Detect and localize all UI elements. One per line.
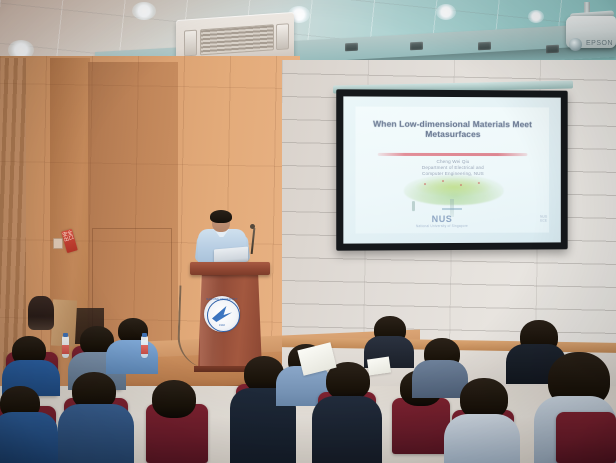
audience-shoulders [106,340,158,374]
projector: EPSON [566,2,616,54]
tree-blossom-dot [442,180,444,182]
ac-side-vent [184,30,197,57]
ceiling-light [528,10,544,23]
podium: NANJING UNIVERSITY 1902 [190,262,270,368]
audience-shoulders [58,404,134,463]
podium-top [190,262,270,275]
emblem-top-text: NANJING UNIVERSITY [204,298,240,301]
tree-bench [442,208,462,210]
ceiling-vent [410,42,423,51]
tree-canopy-highlight [414,177,494,197]
slide-subtitle-line: Department of Electrical and [360,165,546,170]
ceiling-vent [478,42,491,51]
projector-lens [569,38,582,51]
presenter-hair [210,210,232,223]
bottle-cap [63,333,68,337]
water-bottle[interactable] [62,336,69,358]
handout-paper [367,357,391,376]
slide-corner-mark: NUS ECE [508,215,547,224]
projector-brand-label: EPSON [586,40,613,47]
bottle-cap [142,333,147,337]
screen-surface: When Low-dimensional Materials Meet Meta… [343,96,560,243]
ac-side-vent [276,23,289,50]
slide-corner-line: ECE [508,219,547,224]
tree-person-figure [412,201,415,211]
microphone-head [250,224,255,229]
water-bottle[interactable] [141,336,148,358]
auditorium-seat[interactable] [392,398,450,454]
slide-divider-rule [378,153,528,156]
nus-logo-subtitle: National University of Singapore [412,224,472,228]
audience-shoulders [0,412,58,463]
nus-logo: NUS National University of Singapore [412,215,472,229]
standing-person-back [28,296,54,330]
ceiling-vent [345,43,358,52]
ac-grille [200,24,274,55]
projector-body: EPSON [566,16,616,48]
slide-subtitle-line: Cheng Wei Qiu [360,159,546,165]
emblem-bottom-text: 1902 [204,324,240,327]
audience-shoulders [412,360,468,398]
lecture-hall-photo: EPSON 安全出口 When Low-dimensional Material… [0,0,616,463]
ceiling-light [436,4,456,20]
tree-blossom-dot [424,183,426,185]
tree-blossom-dot [460,184,462,186]
nus-logo-mark: NUS [412,215,472,224]
presentation-slide: When Low-dimensional Materials Meet Meta… [356,107,550,234]
tree-blossom-dot [478,182,480,184]
projection-screen: When Low-dimensional Materials Meet Meta… [336,89,567,250]
bottle-label [141,345,148,354]
light-switch-plate[interactable] [53,238,63,249]
bottle-label [62,345,69,354]
ceiling-light [132,2,156,20]
audience-shoulders [444,414,520,463]
slide-title: When Low-dimensional Materials Meet Meta… [360,119,546,140]
ceiling-vent [546,45,559,54]
audience-shoulders [312,396,382,463]
audience-head [152,380,196,418]
university-emblem: NANJING UNIVERSITY 1902 [204,296,240,332]
auditorium-seat[interactable] [556,412,616,463]
